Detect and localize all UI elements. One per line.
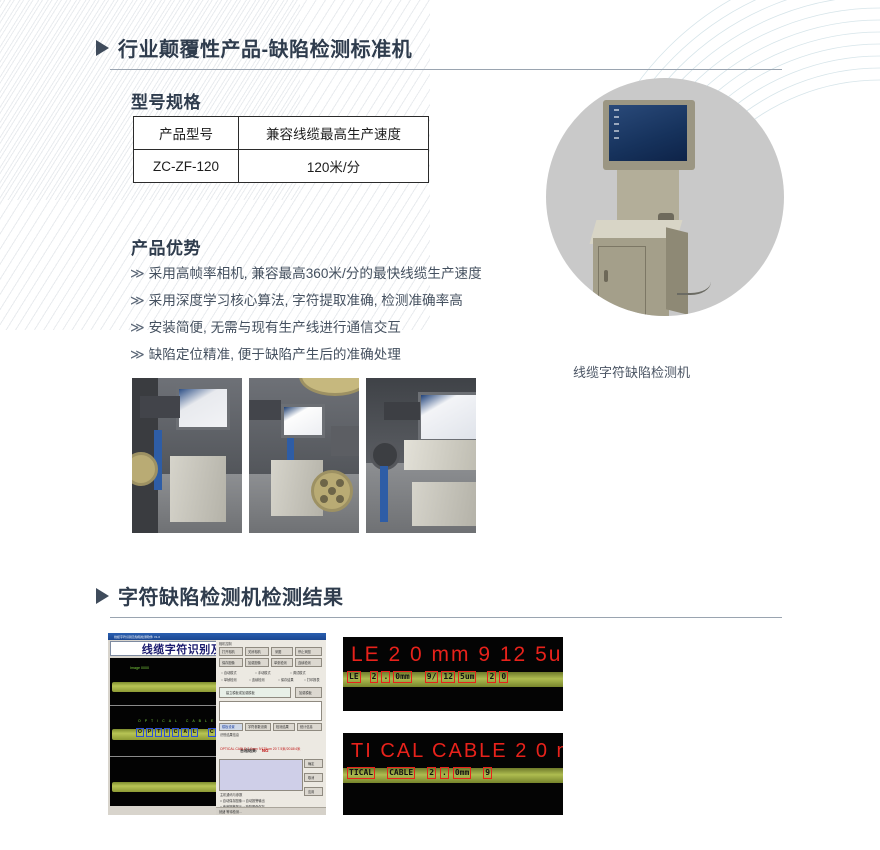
button-single-detect: 单张检测: [271, 658, 293, 667]
table-row: ZC-ZF-120 120米/分: [134, 150, 429, 183]
machine-photo-caption: 线缆字符缺陷检测机: [573, 362, 690, 381]
advantage-text: 缺陷定位精准, 便于缺陷产生后的准确处理: [149, 342, 401, 368]
photo-cabinet: [170, 456, 226, 522]
ocr-char: C: [172, 728, 180, 737]
photo-monitor-screen: [179, 389, 227, 427]
detection-tag: LE: [347, 671, 361, 683]
radio-single[interactable]: ○ 单帧检测: [221, 678, 237, 682]
section-title-product: 行业颠覆性产品-缺陷检测标准机: [118, 33, 412, 62]
radio-continuous[interactable]: ○ 连续检测: [249, 678, 265, 682]
options-label: 主机通讯与参数: [220, 793, 242, 797]
reel-hole: [336, 495, 344, 503]
result-detail: OPTICAL CABLE 2.0mm 9/125um 20 7.5米/2018…: [220, 747, 320, 751]
triangle-bullet-icon: [96, 40, 109, 56]
photo-monitor-screen: [284, 407, 322, 435]
photo-monitor: [176, 386, 230, 430]
chevron-right-double-icon: ≫: [130, 314, 145, 340]
detection-tag: TICAL: [347, 767, 375, 779]
software-status-bar: 就绪 等待检测...: [216, 807, 326, 815]
result-section-label: 识别结果信息: [220, 733, 239, 737]
photo-cable-reel: [311, 470, 353, 512]
checkbox-auto-save[interactable]: □ 自动保存图像 □ 自动报警输出: [220, 799, 265, 803]
advantages-heading: 产品优势: [131, 234, 201, 259]
photo-conveyor: [404, 440, 476, 470]
photo-camera-arm: [140, 396, 180, 418]
button-template[interactable]: 加载模板: [295, 687, 322, 698]
template-list[interactable]: [219, 701, 322, 721]
ocr-char: C: [208, 728, 216, 737]
tab-result[interactable]: 检测结果: [273, 723, 295, 731]
photo-machinery: [331, 426, 359, 456]
section-header-results: 字符缺陷检测机检测结果: [96, 581, 344, 610]
detection-overlay-text: LE 2 0 mm 9 12 5um 2: [351, 643, 563, 667]
power-cord: [677, 273, 711, 295]
chevron-right-double-icon: ≫: [130, 287, 145, 313]
chevron-right-double-icon: ≫: [130, 260, 145, 286]
photo-camera-arm: [384, 402, 420, 420]
ocr-char: T: [155, 728, 162, 737]
image-label: Image 0000: [130, 666, 149, 670]
triangle-bullet-icon: [96, 588, 109, 604]
button-load-image: 加载图像: [245, 658, 269, 667]
machine-photo: [546, 78, 784, 316]
photo-monitor: [281, 404, 325, 438]
section-rule-product: [110, 69, 782, 70]
detection-tag: .: [381, 671, 390, 683]
section-rule-results: [110, 617, 782, 618]
detection-tag: 9/: [425, 671, 439, 683]
install-photo-1: [132, 378, 242, 533]
spec-table: 产品型号 兼容线缆最高生产速度 ZC-ZF-120 120米/分: [133, 116, 429, 183]
photo-monitor: [418, 392, 476, 442]
reel-hole: [320, 495, 328, 503]
radio-save[interactable]: ○ 保存结果: [278, 678, 294, 682]
detection-tag: .: [440, 767, 449, 779]
detection-tag: 2: [427, 767, 436, 779]
detection-tag: 0: [499, 671, 508, 683]
advantages-list: ≫ 采用高帧率相机, 兼容最高360米/分的最快线缆生产速度 ≫ 采用深度学习核…: [130, 260, 482, 368]
button-close-camera: 关闭相机: [245, 647, 269, 656]
radio-auto[interactable]: ○ 自动模式: [221, 671, 237, 675]
photo-stand: [380, 466, 388, 522]
section-header-product: 行业颠覆性产品-缺陷检测标准机: [96, 33, 412, 62]
button-stop-grab: 停止采图: [295, 647, 322, 656]
photo-cabinet: [412, 482, 476, 526]
section-title-results: 字符缺陷检测机检测结果: [118, 581, 344, 610]
install-photo-2: [249, 378, 359, 533]
tab-params[interactable]: 字符参数设置: [245, 723, 271, 731]
panel-group-label: 相机控制: [219, 642, 232, 646]
button-continuous-detect: 连续检测: [295, 658, 322, 667]
software-window-title: 线缆字符识别及缺陷检测软件 V1.0: [114, 635, 160, 639]
detection-tag: 0mm: [393, 671, 411, 683]
detection-overlay-text: TI CAL CABLE 2 0 mm: [351, 740, 563, 763]
ocr-char: L: [191, 728, 198, 737]
panel-title-bar: [216, 633, 326, 640]
button-apply[interactable]: 应用: [304, 787, 323, 796]
detection-tag: 5um: [458, 671, 476, 683]
chevron-right-double-icon: ≫: [130, 341, 145, 367]
monitor-screen: [609, 105, 687, 161]
advantage-text: 安装简便, 无需与现有生产线进行通信交互: [149, 315, 401, 341]
table-header-speed: 兼容线缆最高生产速度: [239, 117, 429, 150]
ocr-char: O: [136, 728, 144, 737]
button-grab: 采图: [271, 647, 293, 656]
table-header-row: 产品型号 兼容线缆最高生产速度: [134, 117, 429, 150]
button-cancel[interactable]: 取消: [304, 773, 323, 782]
ocr-char: P: [146, 728, 153, 737]
list-item: ≫ 缺陷定位精准, 便于缺陷产生后的准确处理: [130, 341, 482, 368]
install-photo-3: [366, 378, 476, 533]
cabinet-side: [666, 227, 688, 314]
radio-debug[interactable]: ○ 调试模式: [290, 671, 306, 675]
install-photo-row: [132, 378, 476, 533]
ocr-char: I: [164, 728, 169, 737]
panel-ocr-hint: OPTICAL CABLE 2: [138, 719, 228, 723]
reel-hub: [328, 487, 336, 495]
reel-hole: [320, 479, 328, 487]
detection-tag: 2: [370, 671, 379, 683]
radio-print[interactable]: ○ 打印报表: [304, 678, 320, 682]
list-item: ≫ 采用高帧率相机, 兼容最高360米/分的最快线缆生产速度: [130, 260, 482, 287]
detection-image-1: LE 2 0 mm 9 12 5um 2 LE 2 . 0mm 9/ 12 5u…: [343, 637, 563, 711]
detection-tags: TICAL CABLE 2 . 0mm 9: [347, 767, 492, 779]
advantage-text: 采用高帧率相机, 兼容最高360米/分的最快线缆生产速度: [149, 261, 482, 287]
detection-image-2: TI CAL CABLE 2 0 mm TICAL CABLE 2 . 0mm …: [343, 733, 563, 815]
table-cell-speed: 120米/分: [239, 150, 429, 183]
detection-tag: 12: [441, 671, 455, 683]
list-item: ≫ 采用深度学习核心算法, 字符提取准确, 检测准确率高: [130, 287, 482, 314]
ocr-char: A: [181, 728, 189, 737]
button-open-camera: 打开相机: [219, 647, 243, 656]
radio-manual[interactable]: ○ 手动模式: [255, 671, 271, 675]
spec-heading: 型号规格: [131, 88, 201, 113]
tab-statistics[interactable]: 统计信息: [297, 723, 322, 731]
reel-hole: [336, 479, 344, 487]
detection-tag: 0mm: [453, 767, 471, 779]
detection-tag: 9: [483, 767, 492, 779]
detection-tag: 2: [487, 671, 496, 683]
table-cell-model: ZC-ZF-120: [134, 150, 239, 183]
detection-tags: LE 2 . 0mm 9/ 12 5um 2 0: [347, 671, 508, 683]
software-control-panel: 相机控制 打开相机 关闭相机 采图 停止采图 保存图像 加载图像 单张检测 连续…: [216, 633, 326, 815]
result-log-list[interactable]: [219, 759, 303, 791]
door-handle: [604, 270, 608, 282]
button-save-image: 保存图像: [219, 658, 243, 667]
table-header-model: 产品型号: [134, 117, 239, 150]
advantage-text: 采用深度学习核心算法, 字符提取准确, 检测准确率高: [149, 288, 463, 314]
detection-tag: CABLE: [387, 767, 415, 779]
detect-status-field: 建立模板或加载模板: [219, 687, 291, 698]
page-root: 行业颠覆性产品-缺陷检测标准机 型号规格 产品型号 兼容线缆最高生产速度 ZC-…: [0, 0, 880, 850]
list-item: ≫ 安装简便, 无需与现有生产线进行通信交互: [130, 314, 482, 341]
tab-template[interactable]: 模板设置: [219, 723, 243, 731]
photo-camera-arm: [249, 400, 281, 420]
button-confirm[interactable]: 确定: [304, 759, 323, 768]
photo-monitor-screen: [421, 395, 476, 439]
